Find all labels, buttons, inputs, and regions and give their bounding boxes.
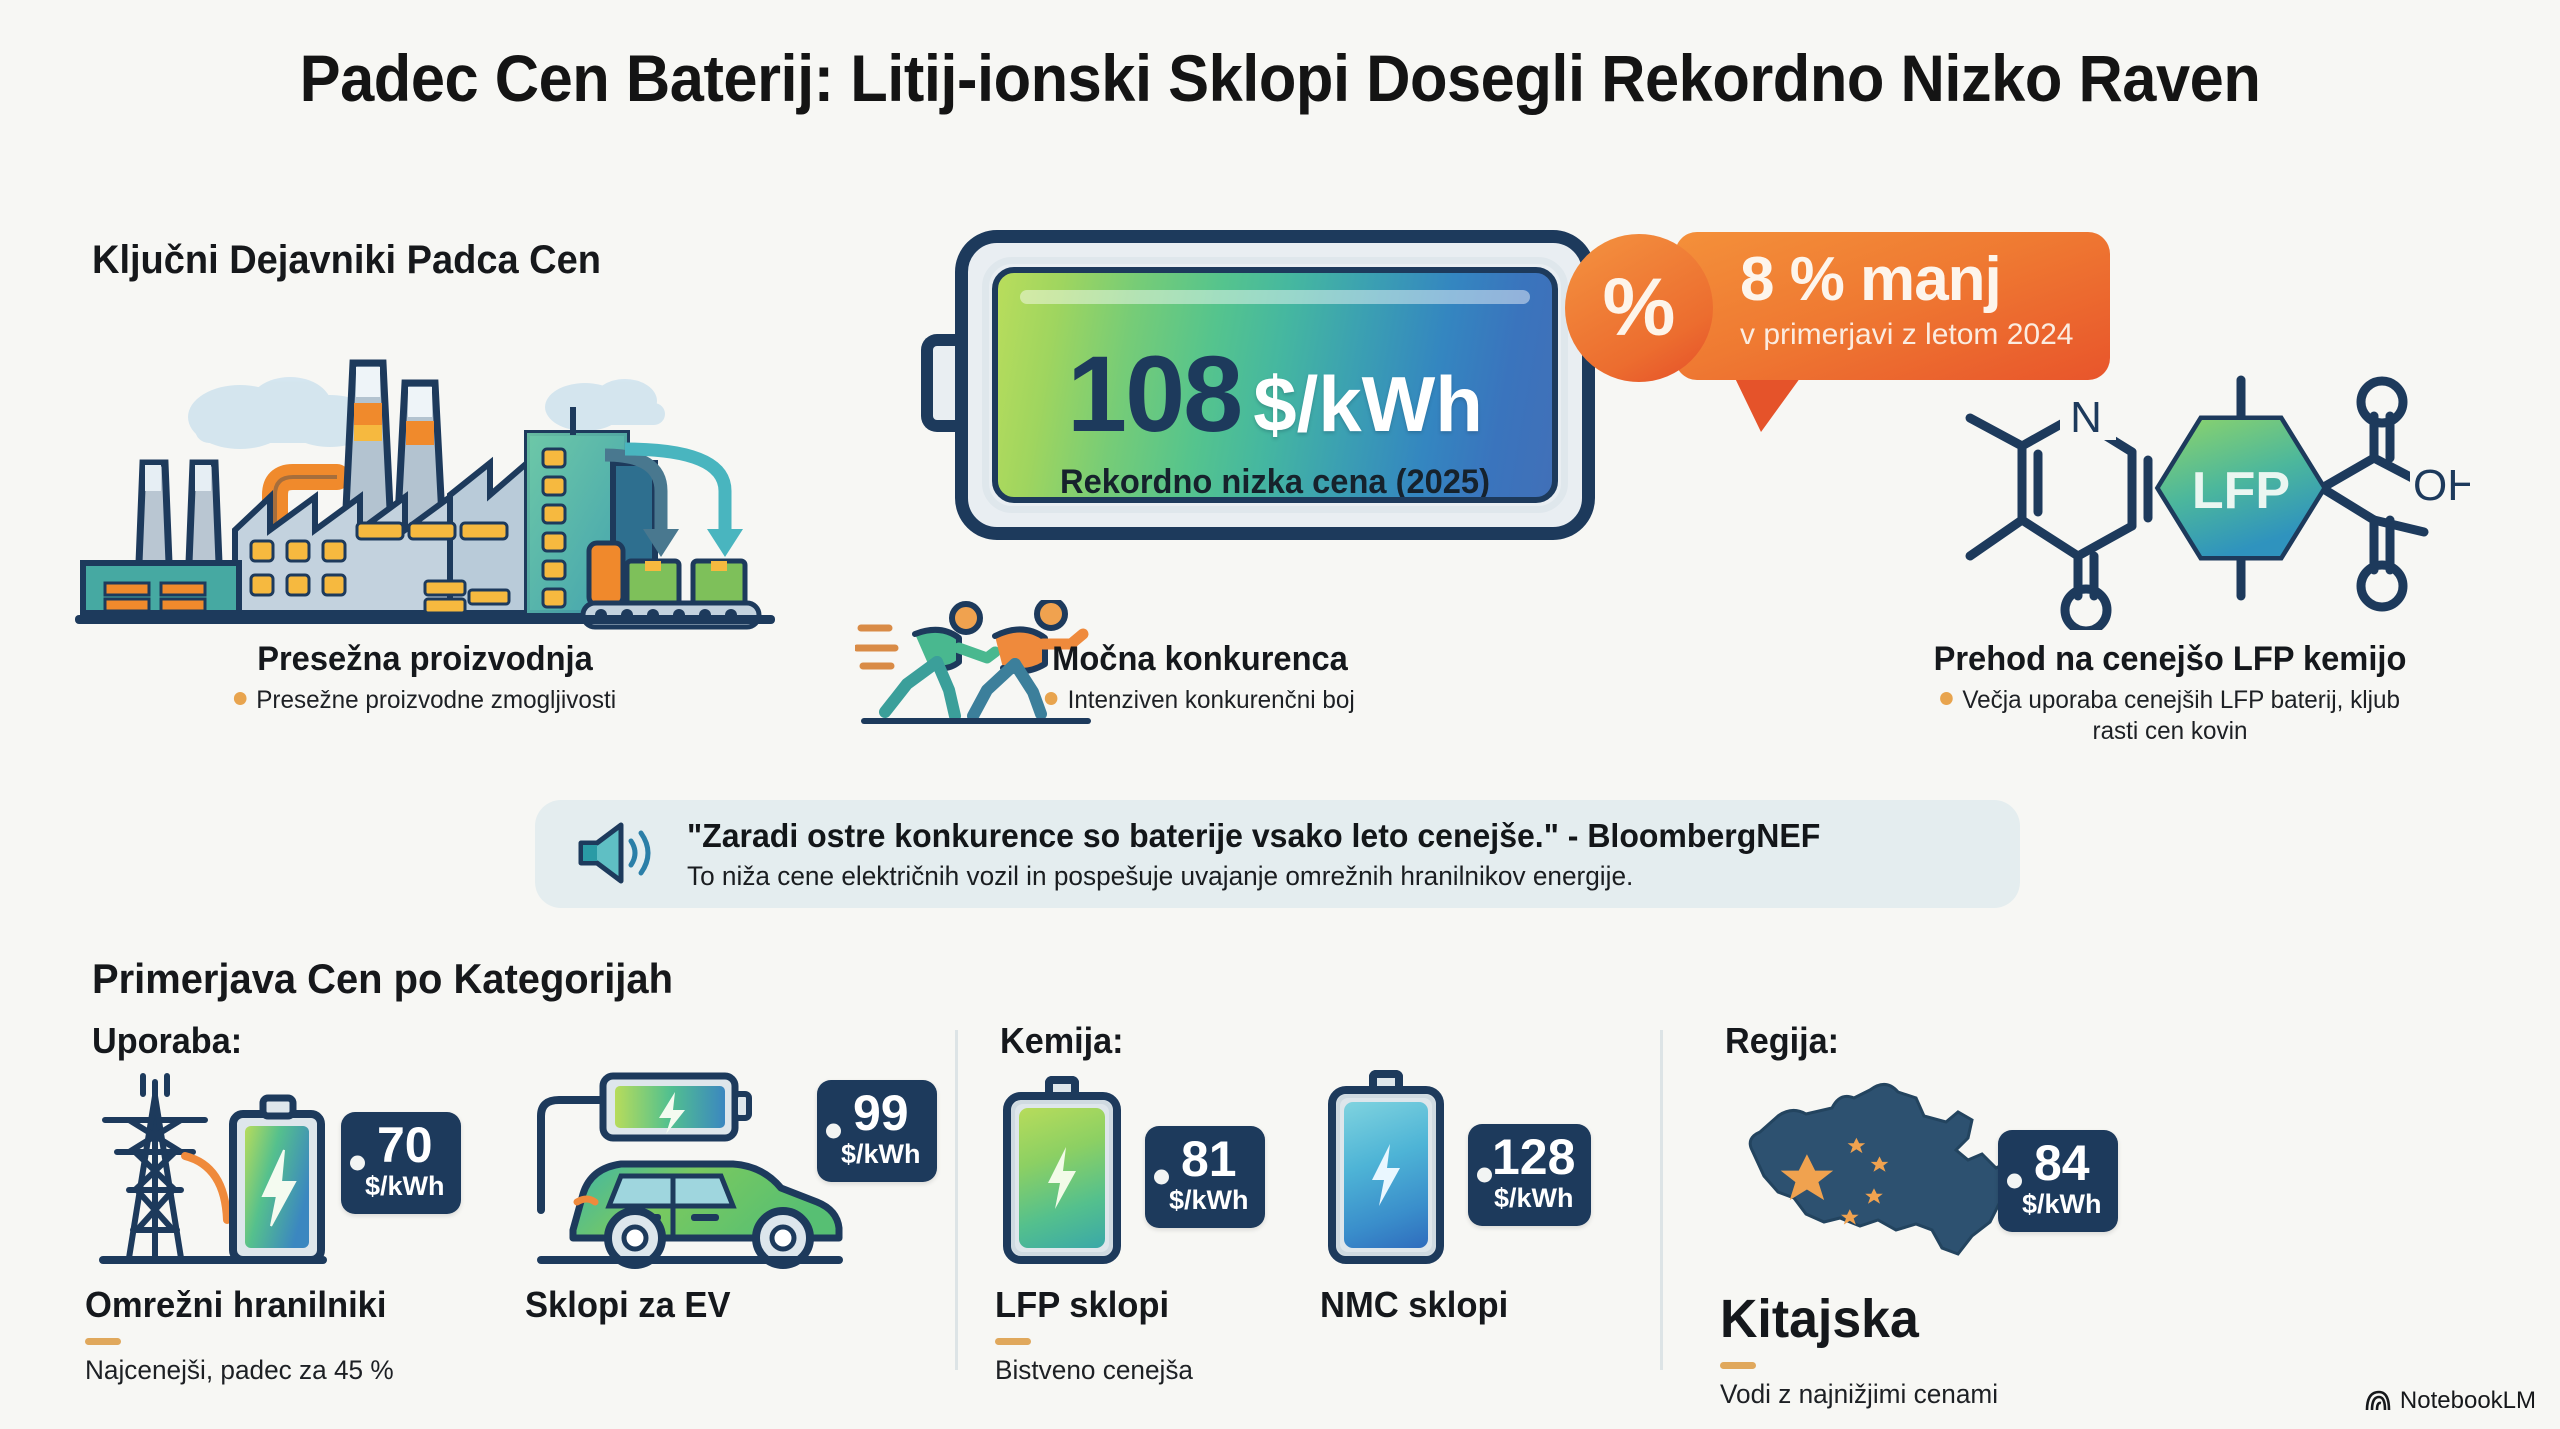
infographic-canvas: Padec Cen Baterij: Litij-ionski Sklopi D… xyxy=(0,0,2560,1429)
driver-block-oversupply: Presežna proizvodnja Presežne proizvodne… xyxy=(60,640,790,716)
item-name: Omrežni hranilniki xyxy=(85,1284,469,1326)
comparison-item-grid-storage: 70 $/kWh Omrežni hranilniki Najcenejši, … xyxy=(85,1070,485,1386)
driver-block-competition: Močna konkurenca Intenziven konkurenčni … xyxy=(850,640,1550,716)
drivers-heading: Ključni Dejavniki Padca Cen xyxy=(92,238,601,283)
item-rule xyxy=(1720,1362,1756,1369)
bullet-dot xyxy=(234,692,247,705)
column-divider-1 xyxy=(955,1030,958,1370)
price-tag: 70 $/kWh xyxy=(341,1112,461,1214)
quote-banner: "Zaradi ostre konkurence so baterije vsa… xyxy=(535,800,2020,908)
price-unit: $/kWh xyxy=(1492,1184,1575,1214)
item-rule xyxy=(995,1338,1031,1345)
column-label-region: Regija: xyxy=(1725,1020,1839,1062)
item-name: Sklopi za EV xyxy=(525,1284,909,1326)
comparison-item-nmc: 128 $/kWh NMC sklopi xyxy=(1320,1058,1650,1326)
price-tag: 81 $/kWh xyxy=(1145,1126,1265,1228)
hero-battery: 108$/kWh Rekordno nizka cena (2025) xyxy=(955,230,1595,540)
lfp-battery-icon: 81 $/kWh xyxy=(995,1070,1325,1270)
price-unit: $/kWh xyxy=(365,1172,445,1202)
comparison-section: Uporaba: Kemija: Regija: xyxy=(0,1020,2560,1420)
factory-icon xyxy=(65,345,785,635)
quote-text-block: "Zaradi ostre konkurence so baterije vsa… xyxy=(687,817,2020,892)
megaphone-icon xyxy=(573,819,661,890)
page-title: Padec Cen Baterij: Litij-ionski Sklopi D… xyxy=(90,40,2471,116)
quote-sub: To niža cene električnih vozil in pospeš… xyxy=(687,861,1980,892)
price-value: 128 xyxy=(1492,1132,1575,1182)
bullet-dot xyxy=(1045,692,1058,705)
badge-subline: v primerjavi z letom 2024 xyxy=(1740,318,2092,352)
price-tag: 99 $/kWh xyxy=(817,1080,937,1182)
column-divider-2 xyxy=(1660,1030,1663,1370)
hero-price-value: 108 xyxy=(1067,333,1241,454)
driver-bullet-text: Presežne proizvodne zmogljivosti xyxy=(256,686,616,714)
driver-block-lfp: Prehod na cenejšo LFP kemijo Večja upora… xyxy=(1790,640,2550,748)
badge-headline: 8 % manj xyxy=(1740,244,2092,315)
item-rule xyxy=(85,1338,121,1345)
driver-bullet-text: Intenziven konkurenčni boj xyxy=(1068,686,1355,714)
driver-bullet: Presežne proizvodne zmogljivosti xyxy=(71,685,779,716)
driver-title: Presežna proizvodnja xyxy=(75,640,776,679)
comparison-heading: Primerjava Cen po Kategorijah xyxy=(92,955,673,1003)
driver-bullet-text: Večja uporaba cenejših LFP baterij, klju… xyxy=(1962,686,2400,714)
price-unit: $/kWh xyxy=(2022,1190,2102,1220)
item-name: Kitajska xyxy=(1720,1288,2258,1350)
ev-car-icon: 99 $/kWh xyxy=(525,1070,925,1270)
price-value: 70 xyxy=(365,1120,445,1170)
price-unit: $/kWh xyxy=(1169,1186,1249,1216)
battery-shell: 108$/kWh Rekordno nizka cena (2025) xyxy=(955,230,1595,540)
price-tag: 128 $/kWh xyxy=(1468,1124,1591,1226)
percent-icon: % xyxy=(1565,234,1713,382)
driver-bullet: Intenziven konkurenčni boj xyxy=(861,685,1540,716)
item-note: Vodi z najnižjimi cenami xyxy=(1720,1379,2263,1410)
notebooklm-logo-icon xyxy=(2365,1389,2391,1413)
driver-bullet: Večja uporaba cenejših LFP baterij, klju… xyxy=(1801,685,2538,748)
price-value: 81 xyxy=(1169,1134,1249,1184)
molecule-center-label: LFP xyxy=(2192,462,2290,520)
column-label-usage: Uporaba: xyxy=(92,1020,242,1062)
bullet-dot xyxy=(1940,692,1953,705)
item-note: Bistveno cenejša xyxy=(995,1355,1315,1386)
lightning-bolt-icon xyxy=(1042,1145,1082,1211)
price-unit: $/kWh xyxy=(841,1140,921,1170)
price-value: 84 xyxy=(2022,1138,2102,1188)
molecule-icon: LFP N OH xyxy=(1950,360,2470,630)
driver-title: Močna konkurenca xyxy=(864,640,1536,679)
watermark-label: NotebookLM xyxy=(2400,1387,2536,1415)
column-label-chemistry: Kemija: xyxy=(1000,1020,1124,1062)
hero-price-unit: $/kWh xyxy=(1253,360,1483,448)
badge-tail xyxy=(1733,374,1803,432)
comparison-item-lfp: 81 $/kWh LFP sklopi Bistveno cenejša xyxy=(995,1070,1325,1386)
price-value: 99 xyxy=(841,1088,921,1138)
item-name: NMC sklopi xyxy=(1320,1284,1637,1326)
driver-bullet-text-2: rasti cen kovin xyxy=(1801,716,2538,747)
lightning-bolt-icon xyxy=(1366,1142,1406,1208)
item-name: LFP sklopi xyxy=(995,1284,1312,1326)
china-map-icon: 84 $/kWh xyxy=(1720,1064,2280,1274)
battery-gloss xyxy=(1020,290,1530,304)
comparison-item-china: 84 $/kWh Kitajska Vodi z najnižjimi cena… xyxy=(1720,1064,2280,1410)
molecule-n-label: N xyxy=(2070,393,2102,442)
battery-fill: 108$/kWh Rekordno nizka cena (2025) xyxy=(992,267,1558,503)
hero-caption: Rekordno nizka cena (2025) xyxy=(1009,463,1541,502)
nmc-battery-icon: 128 $/kWh xyxy=(1320,1058,1650,1258)
item-note: Najcenejši, padec za 45 % xyxy=(85,1355,473,1386)
grid-storage-icon: 70 $/kWh xyxy=(85,1070,485,1270)
driver-title: Prehod na cenejšo LFP kemijo xyxy=(1805,640,2535,679)
hero-price-row: 108$/kWh xyxy=(998,331,1552,456)
quote-main: "Zaradi ostre konkurence so baterije vsa… xyxy=(687,817,1980,855)
molecule-oh-label: OH xyxy=(2413,461,2470,510)
comparison-item-ev-packs: 99 $/kWh Sklopi za EV xyxy=(525,1070,925,1326)
price-tag: 84 $/kWh xyxy=(1998,1130,2118,1232)
battery-terminal xyxy=(921,334,957,432)
notebooklm-watermark: NotebookLM xyxy=(2365,1387,2536,1415)
